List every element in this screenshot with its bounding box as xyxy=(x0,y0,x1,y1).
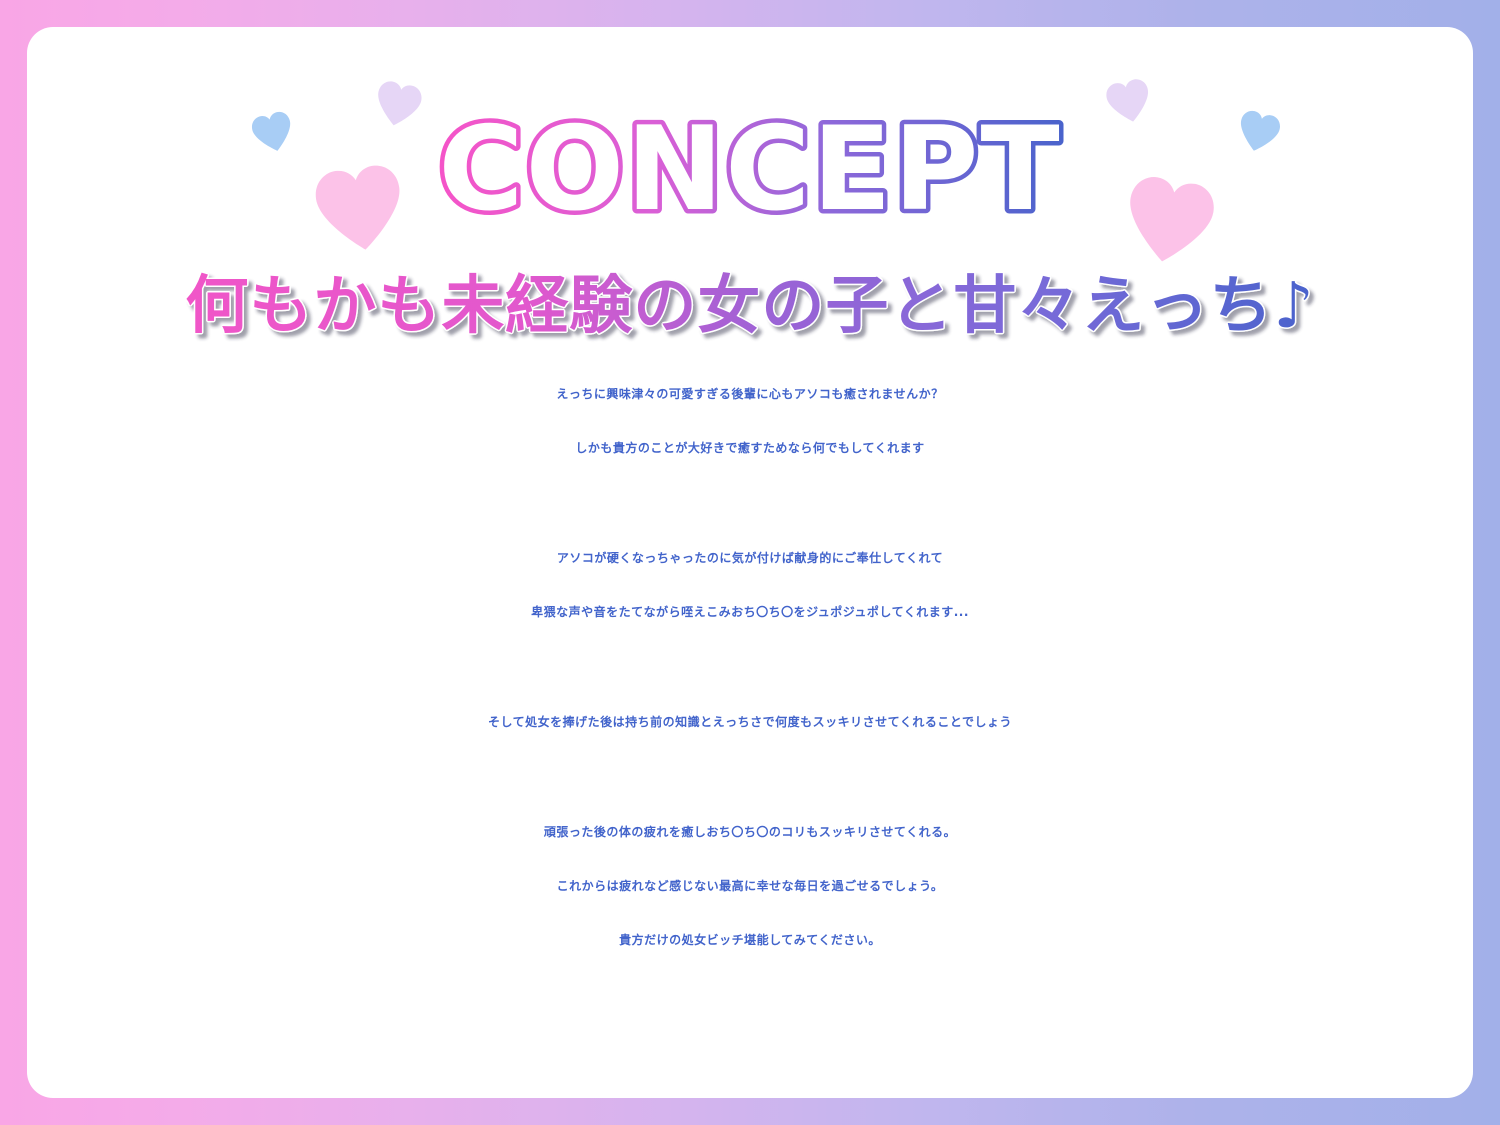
page-title: CONCEPT xyxy=(27,109,1473,243)
body-line: 貴方だけの処女ビッチ堪能してみてください。 xyxy=(27,913,1473,967)
paragraph-after: そして処女を捧げた後は持ち前の知識とえっちさで何度もスッキリさせてくれることでし… xyxy=(27,695,1473,749)
body-line: 卑猥な声や音をたてながら咥えこみおち〇ち〇をジュポジュポしてくれます... xyxy=(27,585,1473,639)
page-subtitle: 何もかも未経験の女の子と甘々えっち♪ xyxy=(27,255,1473,359)
body-line: アソコが硬くなっちゃったのに気が付けば献身的にご奉仕してくれて xyxy=(27,531,1473,585)
concept-body: えっちに興味津々の可愛すぎる後輩に心もアソコも癒されませんか？しかも貴方のことが… xyxy=(27,367,1473,967)
body-line: そして処女を捧げた後は持ち前の知識とえっちさで何度もスッキリさせてくれることでし… xyxy=(27,695,1473,749)
concept-title-svg: CONCEPT xyxy=(410,109,1090,239)
subtitle-svg: 何もかも未経験の女の子と甘々えっち♪ xyxy=(90,255,1410,355)
body-line: 頑張った後の体の疲れを癒しおち〇ち〇のコリもスッキリさせてくれる。 xyxy=(27,805,1473,859)
subtitle-text: 何もかも未経験の女の子と甘々えっち♪ xyxy=(185,269,1314,342)
paragraph-intro: えっちに興味津々の可愛すぎる後輩に心もアソコも癒されませんか？しかも貴方のことが… xyxy=(27,367,1473,475)
content-card: CONCEPT 何もかも未経験の女の子と甘々 xyxy=(27,27,1473,1098)
poster-frame: CONCEPT 何もかも未経験の女の子と甘々 xyxy=(0,0,1500,1125)
body-line: しかも貴方のことが大好きで癒すためなら何でもしてくれます xyxy=(27,421,1473,475)
concept-title-text: CONCEPT xyxy=(438,109,1061,237)
paragraph-closing: 頑張った後の体の疲れを癒しおち〇ち〇のコリもスッキリさせてくれる。これからは疲れ… xyxy=(27,805,1473,967)
paragraph-service: アソコが硬くなっちゃったのに気が付けば献身的にご奉仕してくれて卑猥な声や音をたて… xyxy=(27,531,1473,639)
body-line: えっちに興味津々の可愛すぎる後輩に心もアソコも癒されませんか？ xyxy=(27,367,1473,421)
body-line: これからは疲れなど感じない最高に幸せな毎日を過ごせるでしょう。 xyxy=(27,859,1473,913)
